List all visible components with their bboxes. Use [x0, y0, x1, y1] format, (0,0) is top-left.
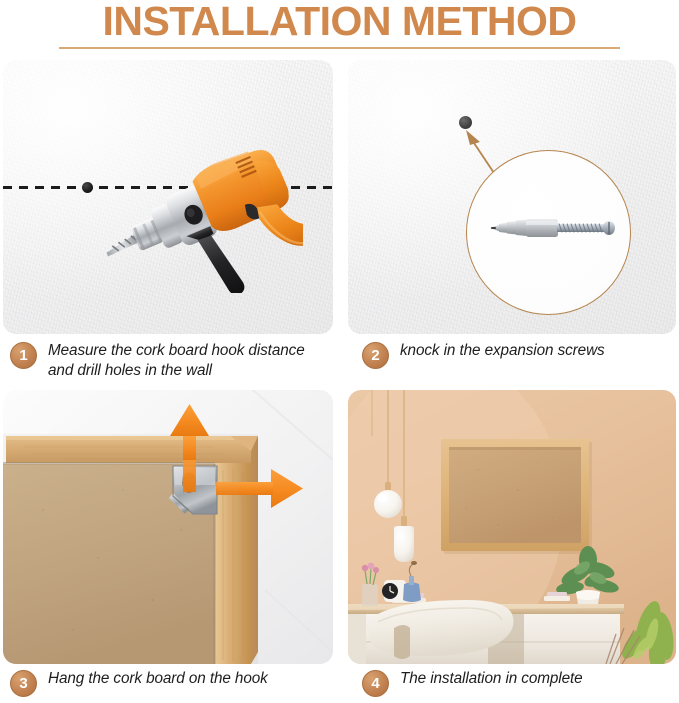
step-2-caption: 2 knock in the expansion screws	[362, 341, 672, 369]
cork-board-back-with-hanger	[3, 390, 333, 664]
step-4-caption-text: The installation in complete	[400, 669, 583, 689]
step-4-caption: 4 The installation in complete	[362, 669, 672, 697]
step-2-badge: 2	[362, 342, 389, 369]
mounted-cork-board	[441, 439, 592, 554]
step-1-image	[3, 60, 333, 334]
step-4-cell	[348, 390, 676, 664]
step-1-caption-text: Measure the cork board hook distance and…	[48, 341, 330, 380]
step-3-caption: 3 Hang the cork board on the hook	[10, 669, 330, 697]
step-3-cell	[3, 390, 333, 664]
step-3-image	[3, 390, 333, 664]
step-1-cell	[3, 60, 333, 334]
title-underline-rule	[59, 47, 620, 49]
page-title: INSTALLATION METHOD	[0, 0, 679, 44]
expansion-screw-and-anchor-icon	[488, 215, 618, 241]
steps-grid: 1 Measure the cork board hook distance a…	[0, 56, 679, 703]
step-3-caption-text: Hang the cork board on the hook	[48, 669, 268, 689]
step-3-badge: 3	[10, 670, 37, 697]
power-drill-icon	[91, 118, 303, 293]
header: INSTALLATION METHOD	[0, 0, 679, 56]
step-2-cell	[348, 60, 676, 334]
step-2-image	[348, 60, 676, 334]
step-1-caption: 1 Measure the cork board hook distance a…	[10, 341, 330, 380]
finished-room-scene	[348, 390, 676, 664]
step-2-caption-text: knock in the expansion screws	[400, 341, 605, 361]
step-1-badge: 1	[10, 342, 37, 369]
step-4-badge: 4	[362, 670, 389, 697]
step-4-image	[348, 390, 676, 664]
